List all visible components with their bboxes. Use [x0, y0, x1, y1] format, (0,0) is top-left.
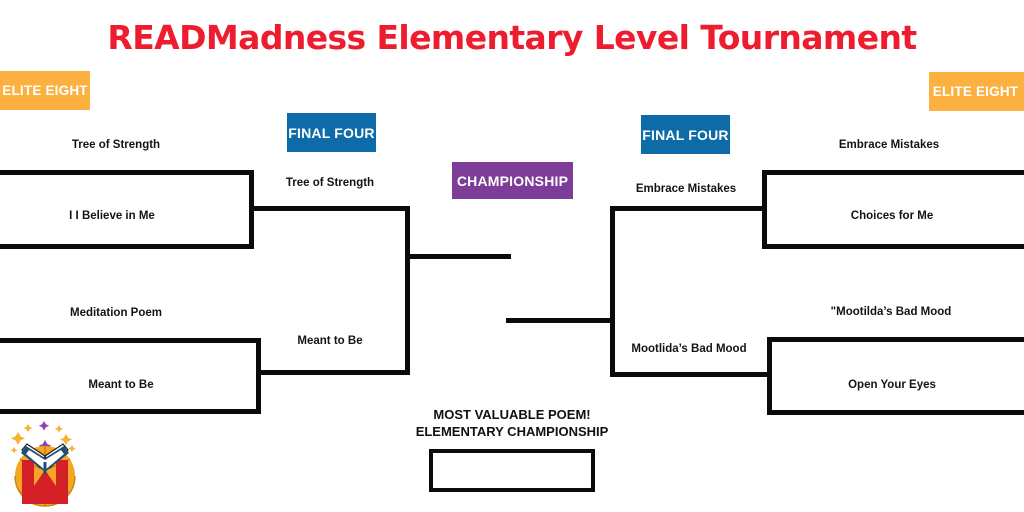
round-badge-elite-eight-right: ELITE EIGHT [929, 72, 1024, 111]
bracket-line-right-f4-left [610, 206, 615, 377]
bracket-line-left-e8-1-top [0, 170, 254, 175]
bracket-line-right-f4-bottom [610, 372, 772, 377]
bracket-line-right-e8-1-top [762, 170, 1024, 175]
slot-right-e8-1-bottom: Choices for Me [851, 210, 933, 222]
readmadness-logo [4, 414, 86, 508]
bracket-line-right-e8-1-bottom [762, 244, 1024, 249]
slot-right-e8-2-top: "Mootilda’s Bad Mood [831, 306, 952, 318]
page-title: READMadness Elementary Level Tournament [0, 18, 1024, 57]
bracket-canvas: READMadness Elementary Level Tournament … [0, 0, 1024, 512]
bracket-line-left-e8-2-right [256, 338, 261, 414]
slot-right-e8-2-bottom: Open Your Eyes [848, 379, 936, 391]
mvp-caption-line2: ELEMENTARY CHAMPIONSHIP [416, 423, 609, 440]
slot-left-e8-1-top: Tree of Strength [72, 139, 160, 151]
mvp-caption: MOST VALUABLE POEM! ELEMENTARY CHAMPIONS… [416, 406, 609, 440]
slot-left-e8-2-top: Meditation Poem [70, 307, 162, 319]
bracket-line-left-e8-1-bottom [0, 244, 254, 249]
slot-right-f4-top: Embrace Mistakes [636, 183, 736, 195]
bracket-line-right-e8-2-top [767, 337, 1024, 342]
round-badge-championship: CHAMPIONSHIP [452, 162, 573, 199]
championship-winner-box[interactable] [429, 449, 595, 492]
slot-right-e8-1-top: Embrace Mistakes [839, 139, 939, 151]
bracket-line-left-championship-feed [405, 254, 511, 259]
slot-left-e8-2-bottom: Meant to Be [88, 379, 153, 391]
bracket-line-left-f4-top [249, 206, 410, 211]
bracket-line-left-e8-2-top [0, 338, 261, 343]
slot-left-f4-bottom: Meant to Be [297, 335, 362, 347]
bracket-line-left-f4-right [405, 206, 410, 375]
bracket-line-right-f4-top [610, 206, 767, 211]
bracket-line-right-e8-2-bottom [767, 410, 1024, 415]
round-badge-final-four-left: FINAL FOUR [287, 113, 376, 152]
slot-left-f4-top: Tree of Strength [286, 177, 374, 189]
slot-right-f4-bottom: Mootlida’s Bad Mood [631, 343, 746, 355]
slot-left-e8-1-bottom: I I Believe in Me [69, 210, 155, 222]
round-badge-elite-eight-left: ELITE EIGHT [0, 71, 90, 110]
bracket-line-left-f4-bottom [256, 370, 410, 375]
mvp-caption-line1: MOST VALUABLE POEM! [416, 406, 609, 423]
bracket-line-right-championship-feed [506, 318, 614, 323]
round-badge-final-four-right: FINAL FOUR [641, 115, 730, 154]
